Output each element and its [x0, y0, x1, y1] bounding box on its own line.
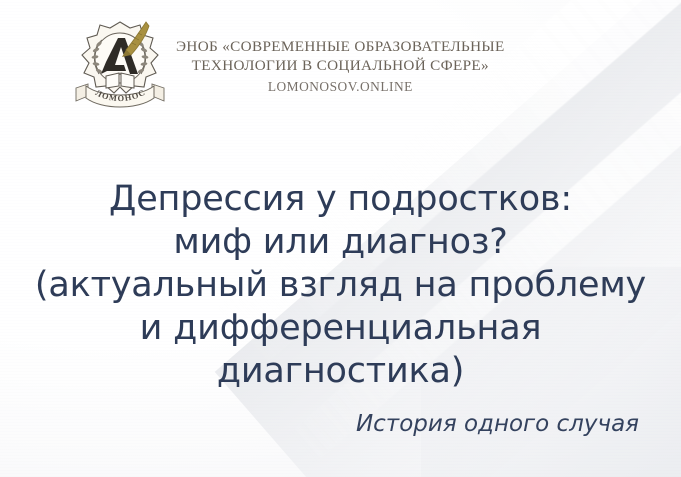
- title-line-4: и дифференциальная: [0, 307, 681, 350]
- organisation-name: ЭНОБ «СОВРЕМЕННЫЕ ОБРАЗОВАТЕЛЬНЫЕ ТЕХНОЛ…: [176, 37, 505, 96]
- presentation-title-slide: ЛОМОНОСОВ ЭНОБ «СОВРЕМЕННЫЕ ОБРАЗОВАТЕЛЬ…: [0, 0, 681, 477]
- page-title: Депрессия у подростков: миф или диагноз?…: [0, 178, 681, 393]
- slide-header: ЛОМОНОСОВ ЭНОБ «СОВРЕМЕННЫЕ ОБРАЗОВАТЕЛЬ…: [0, 16, 681, 116]
- title-line-5: диагностика): [0, 350, 681, 393]
- brand-line-1: ЭНОБ «СОВРЕМЕННЫЕ ОБРАЗОВАТЕЛЬНЫЕ: [176, 37, 505, 56]
- slide-subtitle: История одного случая: [356, 409, 639, 439]
- brand-line-2: ТЕХНОЛОГИИ В СОЦИАЛЬНОЙ СФЕРЕ»: [176, 56, 505, 75]
- brand-website: LOMONOSOV.ONLINE: [176, 77, 505, 96]
- title-line-2: миф или диагноз?: [0, 221, 681, 264]
- title-line-1: Депрессия у подростков:: [0, 178, 681, 221]
- title-line-3: (актуальный взгляд на проблему: [0, 264, 681, 307]
- lomonosov-crest-logo: ЛОМОНОСОВ: [68, 16, 172, 116]
